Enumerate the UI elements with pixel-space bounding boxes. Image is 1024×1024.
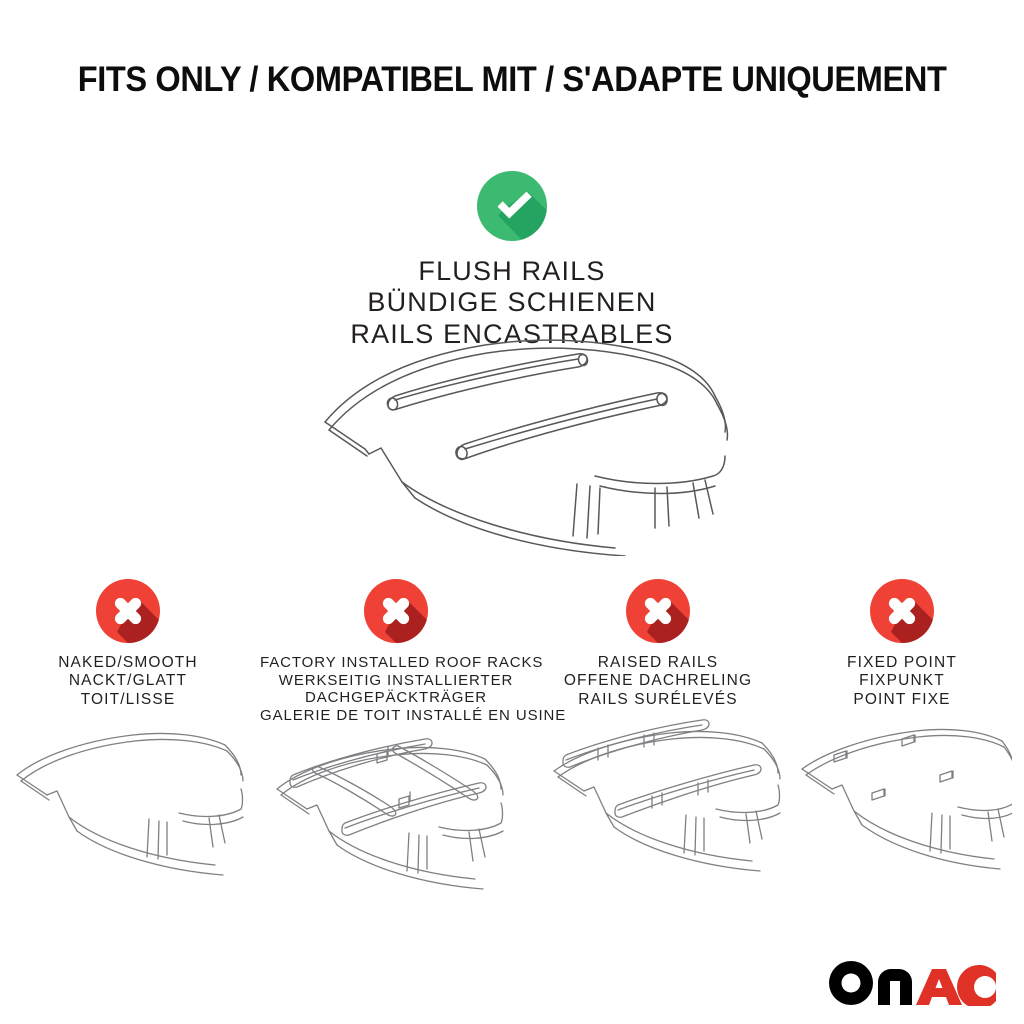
red-x-circle-icon [625,578,691,644]
label-de-2: DACHGEPÄCKTRÄGER [260,689,532,707]
incompatible-section: NAKED/SMOOTH NACKT/GLATT TOIT/LISSE [0,578,1024,911]
incompatible-item-raised-rails: RAISED RAILS OFFENE DACHRELING RAILS SUR… [536,578,780,895]
label-en: FIXED POINT [784,654,1020,672]
label-fr: RAILS SURÉLEVÉS [540,691,776,709]
red-x-circle-icon [363,578,429,644]
logo-letter-m [878,969,912,1005]
red-x-circle-icon [869,578,935,644]
red-x-circle-icon [95,578,161,644]
car-roof-factory-installed-roof-racks-illustration [256,731,536,911]
logo-letter-o [829,961,873,1005]
label-de: NACKT/GLATT [4,672,252,690]
label-de-1: WERKSEITIG INSTALLIERTER [260,672,532,690]
incompatible-item-fixed-point: FIXED POINT FIXPUNKT POINT FIXE [780,578,1024,895]
label-fr: GALERIE DE TOIT INSTALLÉ EN USINE [260,707,532,725]
incompatible-labels: NAKED/SMOOTH NACKT/GLATT TOIT/LISSE [0,654,256,709]
incompatible-labels: FIXED POINT FIXPUNKT POINT FIXE [780,654,1024,709]
label-fr: TOIT/LISSE [4,691,252,709]
incompatible-item-factory-roof-racks: FACTORY INSTALLED ROOF RACKS WERKSEITIG … [256,578,536,911]
header: FITS ONLY / KOMPATIBEL MIT / S'ADAPTE UN… [0,60,1024,100]
page-title: FITS ONLY / KOMPATIBEL MIT / S'ADAPTE UN… [78,60,947,100]
incompatible-labels: FACTORY INSTALLED ROOF RACKS WERKSEITIG … [256,654,536,725]
car-roof-naked-smooth-illustration [0,715,256,895]
label-en: NAKED/SMOOTH [4,654,252,672]
incompatible-item-naked-smooth: NAKED/SMOOTH NACKT/GLATT TOIT/LISSE [0,578,256,895]
logo-letter-c [957,965,996,1006]
label-de: OFFENE DACHRELING [540,672,776,690]
omac-logo [828,960,998,1006]
label-fr: POINT FIXE [784,691,1020,709]
label-en: FACTORY INSTALLED ROOF RACKS [260,654,532,672]
car-roof-raised-rails-illustration [536,715,780,895]
label-de: FIXPUNKT [784,672,1020,690]
label-en: RAISED RAILS [540,654,776,672]
compatible-label-en: FLUSH RAILS [0,256,1024,287]
compatible-section: FLUSH RAILS BÜNDIGE SCHIENEN RAILS ENCAS… [0,170,1024,350]
incompatible-labels: RAISED RAILS OFFENE DACHRELING RAILS SUR… [536,654,780,709]
green-check-circle-icon [476,170,548,242]
car-roof-fixed-point-illustration [780,715,1024,895]
logo-letter-a [916,969,962,1005]
compatible-label-de: BÜNDIGE SCHIENEN [0,287,1024,318]
car-roof-with-flush-rails-illustration [295,336,735,556]
